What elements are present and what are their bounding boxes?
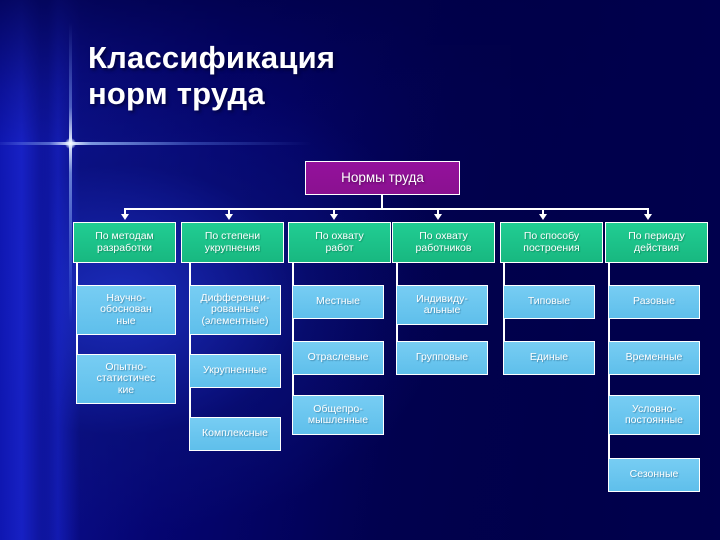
leaf-node-col6-4-label: Сезонные: [628, 469, 681, 480]
arrow-down-col5: [539, 214, 547, 220]
category-node-2[interactable]: По степени укрупнения: [181, 222, 284, 263]
leaf-node-col6-4[interactable]: Сезонные: [608, 458, 700, 492]
leaf-node-col3-1-label: Местные: [314, 296, 362, 307]
leaf-node-col5-1[interactable]: Типовые: [503, 285, 595, 319]
leaf-node-col2-2[interactable]: Укрупненные: [189, 354, 281, 388]
leaf-node-col6-1[interactable]: Разовые: [608, 285, 700, 319]
leaf-node-col4-1-label: Индивиду- альные: [414, 294, 470, 317]
arrow-down-col2: [225, 214, 233, 220]
root-node-normy-truda[interactable]: Нормы труда: [305, 161, 460, 195]
leaf-node-col2-2-label: Укрупненные: [201, 365, 269, 376]
leaf-node-col5-1-label: Типовые: [526, 296, 572, 307]
leaf-node-col3-3[interactable]: Общепро- мышленные: [292, 395, 384, 435]
arrow-down-col1: [121, 214, 129, 220]
category-node-3-label: По охвату работ: [313, 231, 366, 254]
leaf-node-col3-2-label: Отраслевые: [306, 352, 371, 363]
category-node-3[interactable]: По охвату работ: [288, 222, 391, 263]
leaf-node-col4-1[interactable]: Индивиду- альные: [396, 285, 488, 325]
category-node-4[interactable]: По охвату работников: [392, 222, 495, 263]
leaf-node-col1-1[interactable]: Научно- обоснован ные: [76, 285, 176, 335]
leaf-node-col3-2[interactable]: Отраслевые: [292, 341, 384, 375]
category-node-5[interactable]: По способу построения: [500, 222, 603, 263]
leaf-node-col2-3-label: Комплексные: [200, 428, 270, 439]
category-node-1-label: По методам разработки: [93, 231, 156, 254]
leaf-node-col5-2-label: Единые: [528, 352, 570, 363]
category-node-1[interactable]: По методам разработки: [73, 222, 176, 263]
leaf-node-col5-2[interactable]: Единые: [503, 341, 595, 375]
category-node-6[interactable]: По периоду действия: [605, 222, 708, 263]
leaf-node-col6-2[interactable]: Временные: [608, 341, 700, 375]
category-node-6-label: По периоду действия: [626, 231, 687, 254]
slide-canvas: Классификация норм труда Нормы труда По …: [0, 0, 720, 540]
arrow-down-col3: [330, 214, 338, 220]
root-node-label: Нормы труда: [339, 171, 426, 186]
category-node-2-label: По степени укрупнения: [203, 231, 263, 254]
category-node-5-label: По способу построения: [521, 231, 581, 254]
leaf-node-col3-1[interactable]: Местные: [292, 285, 384, 319]
category-node-4-label: По охвату работников: [414, 231, 474, 254]
leaf-node-col6-3-label: Условно- постоянные: [623, 404, 685, 427]
leaf-node-col2-3[interactable]: Комплексные: [189, 417, 281, 451]
leaf-node-col6-3[interactable]: Условно- постоянные: [608, 395, 700, 435]
leaf-node-col1-2[interactable]: Опытно- статистичес кие: [76, 354, 176, 404]
leaf-node-col4-2-label: Групповые: [414, 352, 470, 363]
leaf-node-col2-1[interactable]: Дифференци- рованные (элементные): [189, 285, 281, 335]
horizontal-bus-connector: [124, 208, 647, 210]
leaf-node-col1-2-label: Опытно- статистичес кие: [95, 362, 158, 396]
leaf-node-col2-1-label: Дифференци- рованные (элементные): [199, 293, 272, 327]
leaf-node-col6-1-label: Разовые: [631, 296, 677, 307]
leaf-node-col4-2[interactable]: Групповые: [396, 341, 488, 375]
leaf-node-col1-1-label: Научно- обоснован ные: [98, 293, 154, 327]
arrow-down-col6: [644, 214, 652, 220]
classification-diagram: Нормы труда По методам разработки По сте…: [0, 0, 720, 540]
arrow-down-col4: [434, 214, 442, 220]
leaf-node-col3-3-label: Общепро- мышленные: [306, 404, 370, 427]
leaf-node-col6-2-label: Временные: [624, 352, 685, 363]
